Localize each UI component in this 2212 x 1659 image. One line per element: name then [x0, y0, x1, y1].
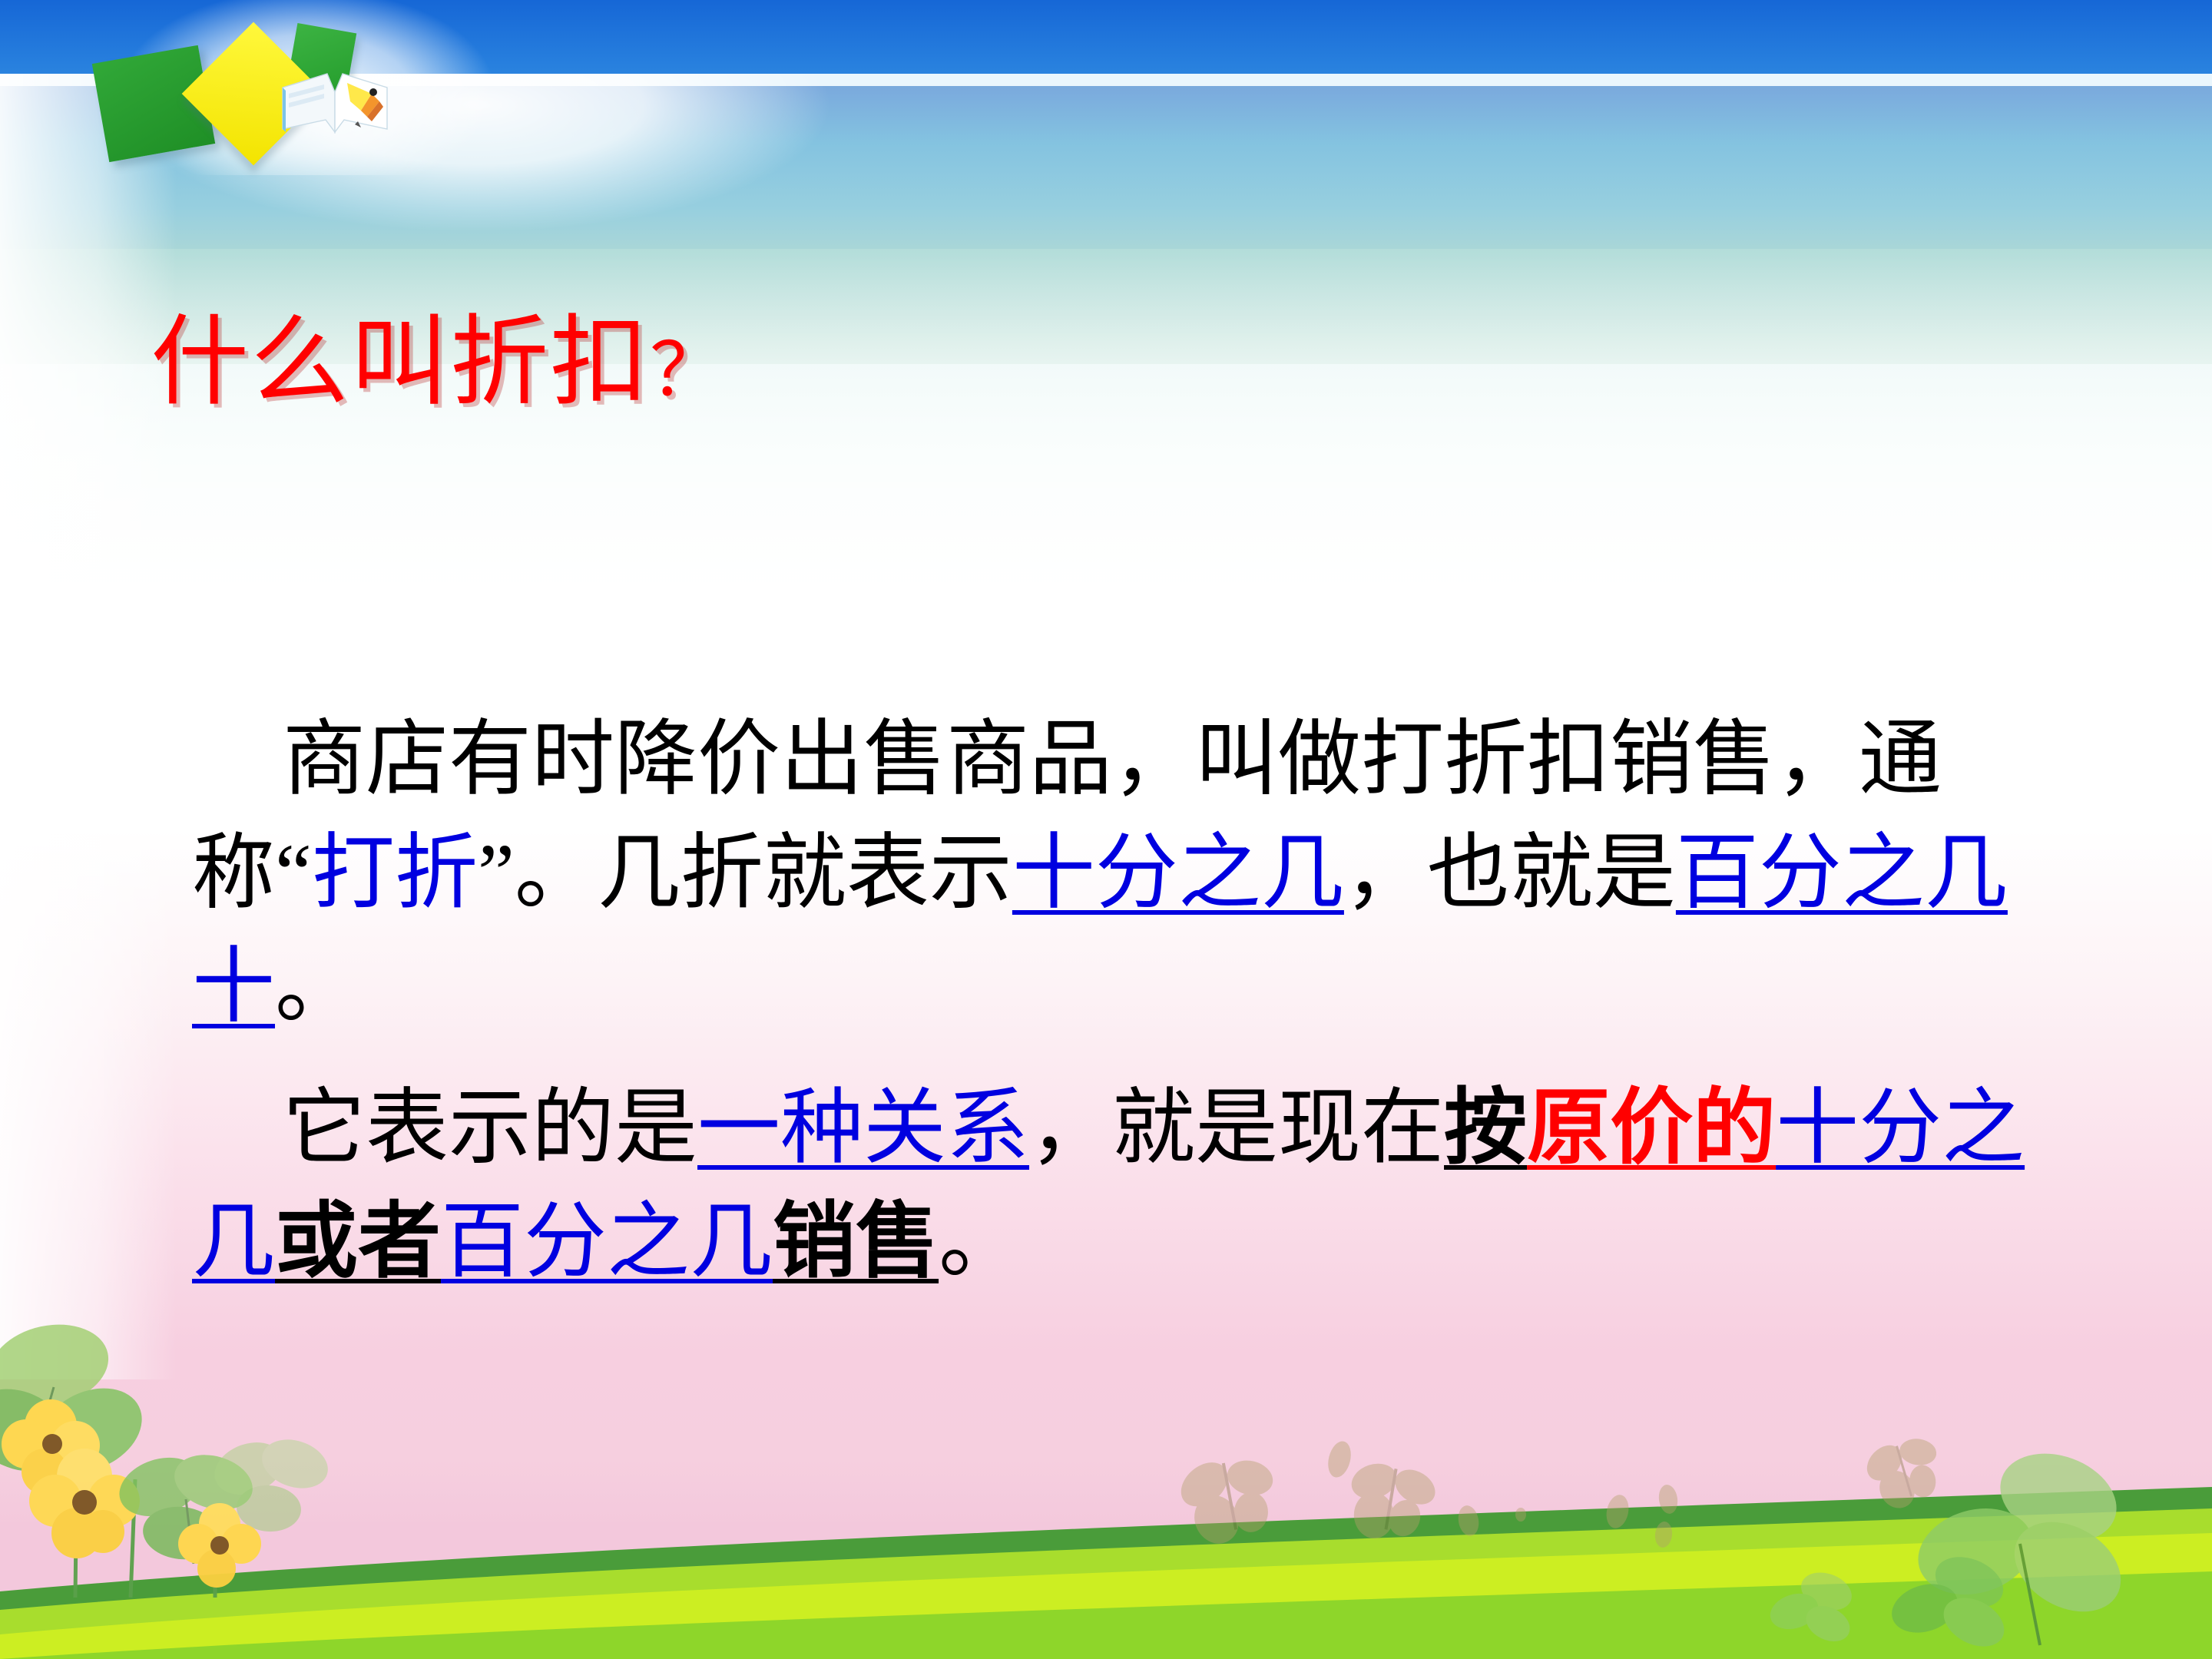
- paragraph-definition: 商店有时降价出售商品，叫做打折扣销售，通称“打折”。几折就表示十分之几，也就是百…: [192, 704, 2097, 1045]
- paragraph-relationship: 它表示的是一种关系，就是现在按原价的十分之几或者百分之几销售。: [192, 1072, 2097, 1300]
- background-left-fade: [0, 74, 177, 1379]
- open-book-with-pencil-icon: [281, 66, 389, 137]
- bottom-left-flora: [0, 1287, 415, 1610]
- run-emphasis-an: 按: [1444, 1083, 1527, 1174]
- run-highlight-dazhe: 打折: [312, 828, 478, 919]
- run-text: ，也就是: [1344, 828, 1676, 919]
- run-emphasis-xiaoshou: 销售: [773, 1197, 939, 1288]
- slide-title: 什么叫折扣？: [151, 313, 725, 412]
- title-question-mark: ？: [650, 329, 725, 412]
- run-text: 它表示的是: [283, 1083, 697, 1174]
- run-highlight-yizhongguanxi: 一种关系: [697, 1083, 1029, 1174]
- slide-canvas: 什么叫折扣？ 商店有时降价出售商品，叫做打折扣销售，通称“打折”。几折就表示十分…: [0, 0, 2212, 1659]
- run-highlight-baifenzhiji: 百分之几: [441, 1197, 773, 1288]
- top-left-decoration: [77, 22, 538, 175]
- run-emphasis-yuanjiade: 原价的: [1527, 1083, 1776, 1174]
- bottom-right-flora: [1121, 1398, 2212, 1651]
- title-text: 什么叫折扣: [151, 308, 650, 417]
- slide-body: 商店有时降价出售商品，叫做打折扣销售，通称“打折”。几折就表示十分之几，也就是百…: [192, 704, 2097, 1300]
- run-text: ，就是现在: [1029, 1083, 1444, 1174]
- run-text: 。: [275, 942, 358, 1033]
- run-highlight-shifenzhiji: 十分之几: [1012, 828, 1344, 919]
- run-emphasis-huozhe: 或者: [275, 1197, 441, 1288]
- run-text: ”。几折就表示: [478, 828, 1012, 919]
- run-text: 。: [939, 1197, 1022, 1288]
